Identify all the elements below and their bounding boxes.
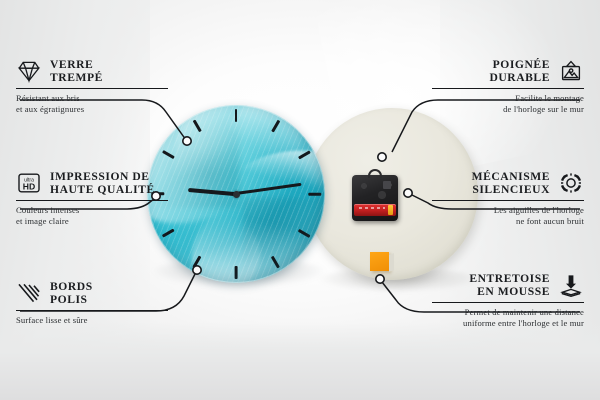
background-surface-band xyxy=(0,322,600,400)
clock-edge-ring xyxy=(147,105,325,283)
wall-clock xyxy=(147,105,325,283)
callout-header: BORDS POLIS xyxy=(16,280,168,307)
callout-rule xyxy=(16,200,168,202)
callout-title: BORDS POLIS xyxy=(50,280,93,307)
diamond-icon xyxy=(16,59,42,83)
gear-icon xyxy=(558,171,584,195)
callout-header: ultra HD IMPRESSION DE HAUTE QUALITÉ xyxy=(16,170,168,197)
callout-description: Surface lisse et sûre xyxy=(16,315,168,326)
callout-bords-polis: BORDS POLIS Surface lisse et sûre xyxy=(16,280,168,326)
callout-title: IMPRESSION DE HAUTE QUALITÉ xyxy=(50,170,155,197)
callout-rule xyxy=(432,302,584,304)
callout-description: Les aiguilles de l'horloge ne font aucun… xyxy=(432,205,584,226)
callout-rule xyxy=(16,88,168,90)
arrow-onto-pad-icon xyxy=(558,273,584,297)
callout-header: VERRE TREMPÉ xyxy=(16,58,168,85)
callout-rule xyxy=(432,88,584,90)
callout-header: MÉCANISME SILENCIEUX xyxy=(432,170,584,197)
callout-impression: ultra HD IMPRESSION DE HAUTE QUALITÉ Cou… xyxy=(16,170,168,227)
callout-header: ENTRETOISE EN MOUSSE xyxy=(432,272,584,299)
callout-description: Couleurs intenses et image claire xyxy=(16,205,168,226)
quartz-mechanism xyxy=(352,175,398,221)
callout-description: Permet de maintenir une distance uniform… xyxy=(432,307,584,328)
mechanism-hanger-loop xyxy=(368,169,382,178)
hanging-frame-icon xyxy=(558,59,584,83)
callout-title: MÉCANISME SILENCIEUX xyxy=(472,170,550,197)
polished-edge-stripes-icon xyxy=(16,281,42,305)
callout-header: POIGNÉE DURABLE xyxy=(432,58,584,85)
callout-title: VERRE TREMPÉ xyxy=(50,58,103,85)
callout-title: POIGNÉE DURABLE xyxy=(489,58,550,85)
battery-terminal xyxy=(388,205,393,215)
battery-label xyxy=(359,207,385,209)
ultra-hd-icon: ultra HD xyxy=(16,171,42,195)
product-infographic: VERRE TREMPÉ Résistant aux bris et aux é… xyxy=(0,0,600,400)
callout-title: ENTRETOISE EN MOUSSE xyxy=(469,272,550,299)
callout-rule xyxy=(432,200,584,202)
mechanism-switch xyxy=(383,181,391,189)
callout-description: Facilite le montage de l'horloge sur le … xyxy=(432,93,584,114)
foam-spacer-side xyxy=(389,253,394,272)
battery xyxy=(354,204,396,216)
ultra-hd-large-text: HD xyxy=(23,182,35,192)
foam-spacer xyxy=(370,252,389,271)
callout-entretoise-mousse: ENTRETOISE EN MOUSSE Permet de maintenir… xyxy=(432,272,584,329)
callout-rule xyxy=(16,310,168,312)
callout-mecanisme-silencieux: MÉCANISME SILENCIEUX Les aiguilles de l'… xyxy=(432,170,584,227)
callout-description: Résistant aux bris et aux égratignures xyxy=(16,93,168,114)
callout-poignee-durable: POIGNÉE DURABLE Facilite le montage de l… xyxy=(432,58,584,115)
callout-verre-trempe: VERRE TREMPÉ Résistant aux bris et aux é… xyxy=(16,58,168,115)
